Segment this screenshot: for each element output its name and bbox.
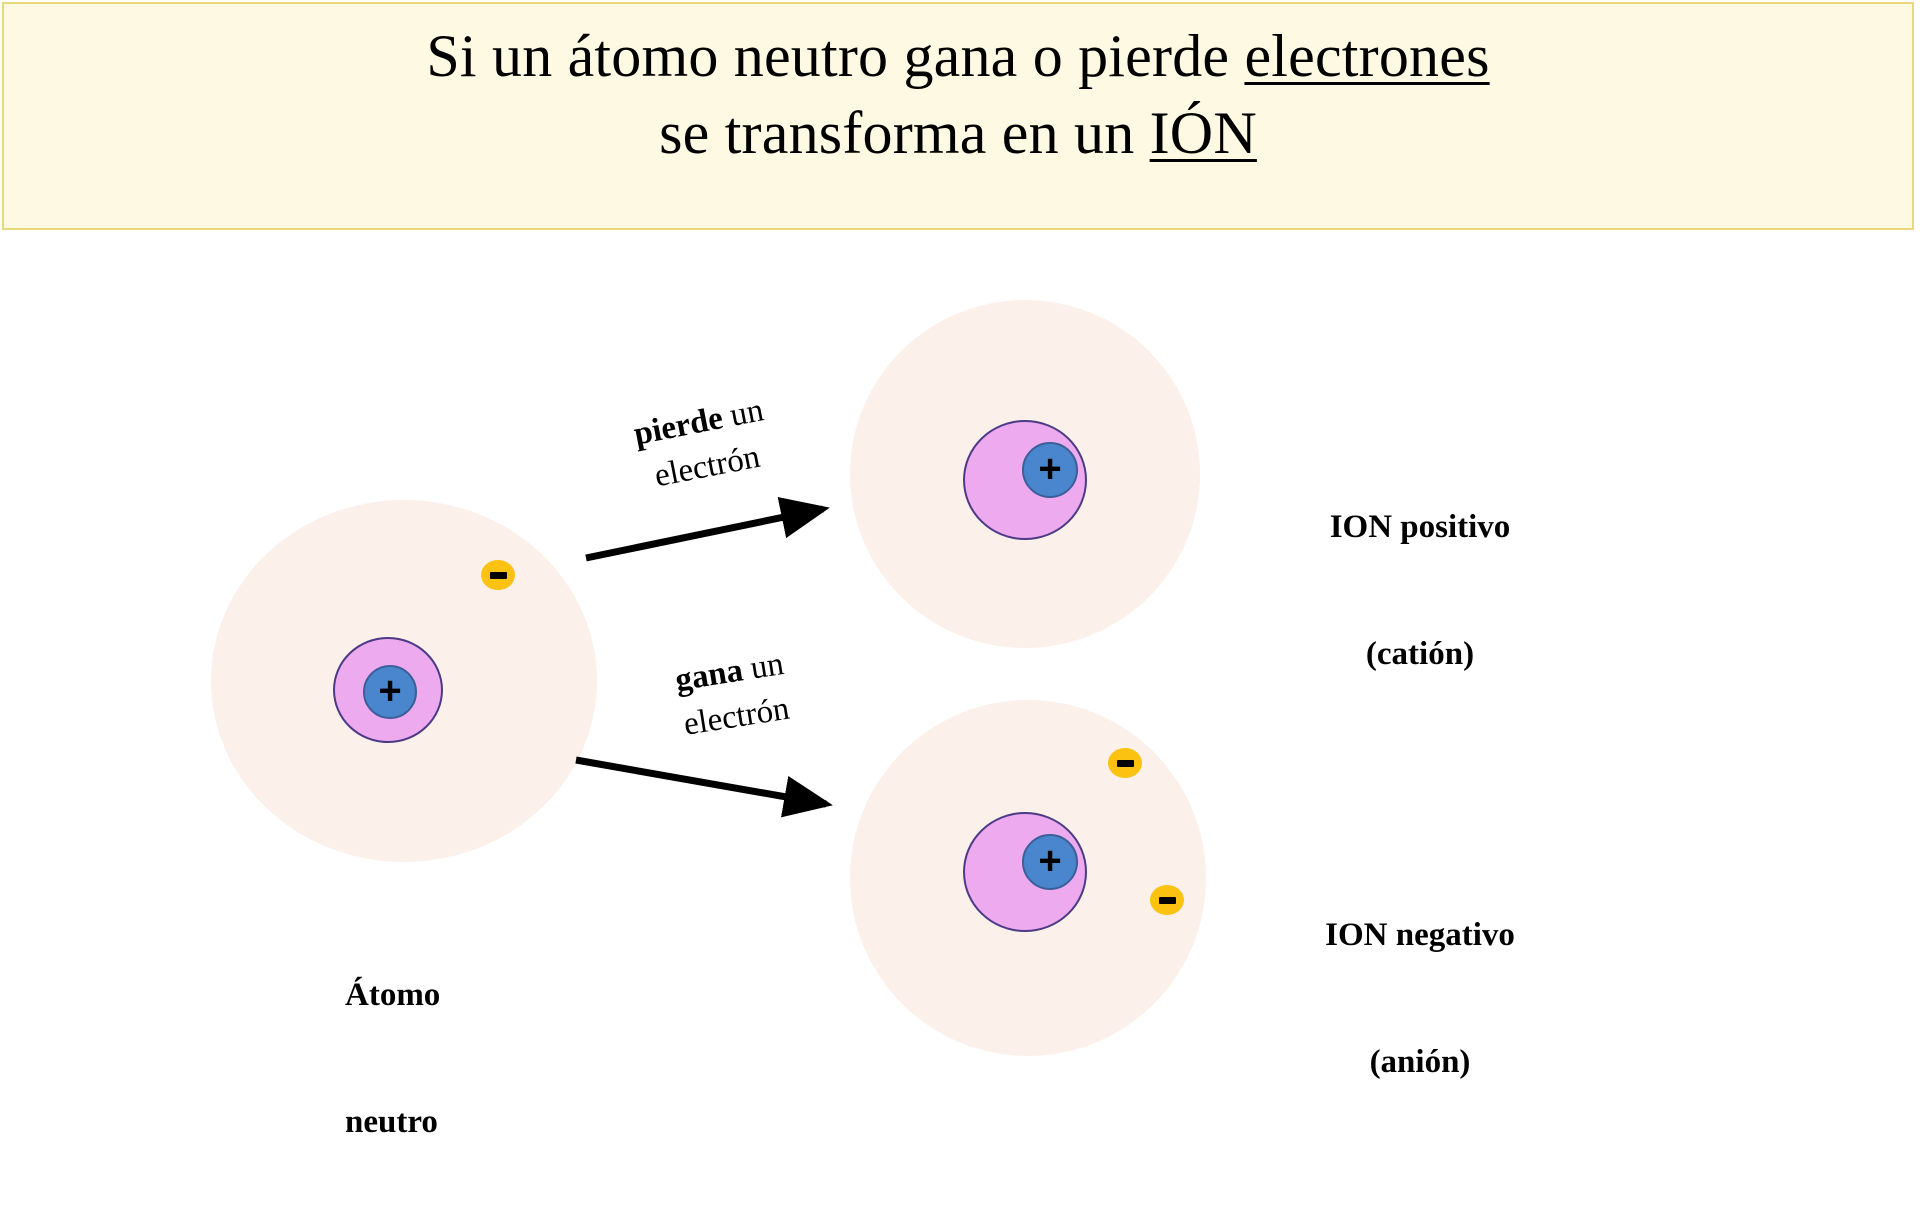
title-line-2-text: se transforma en un xyxy=(659,100,1150,166)
gain-electron-article: un xyxy=(740,646,786,688)
anion-label-line-1: ION negativo xyxy=(1255,914,1585,956)
anion-label-line-2: (anión) xyxy=(1255,1041,1585,1083)
title-line-1-underlined-word: electrones xyxy=(1244,23,1489,89)
neutral-atom-label-line-1: Átomo xyxy=(345,974,440,1016)
cation-label-line-2: (catión) xyxy=(1255,633,1585,675)
title-line-1: Si un átomo neutro gana o pierde electro… xyxy=(426,18,1489,95)
title-banner: Si un átomo neutro gana o pierde electro… xyxy=(2,2,1914,230)
neutral-atom-nucleus-shell: + xyxy=(333,637,443,743)
anion-electron-2 xyxy=(1150,885,1184,915)
plus-icon: + xyxy=(1038,449,1061,489)
title-line-1-text: Si un átomo neutro gana o pierde xyxy=(426,23,1244,89)
cation-nucleus-core: + xyxy=(1022,442,1078,498)
lose-electron-caption: pierde un electrón xyxy=(601,383,805,507)
gain-electron-caption: gana un electrón xyxy=(632,636,834,754)
title-line-2: se transforma en un IÓN xyxy=(659,95,1257,172)
cation-label: ION positivo (catión) xyxy=(1255,422,1585,760)
cation-label-line-1: ION positivo xyxy=(1255,506,1585,548)
neutral-atom-label: Átomo neutro xyxy=(345,890,440,1228)
anion-electron-1 xyxy=(1108,748,1142,778)
ion-formation-diagram: + Átomo neutro pierde un electrón xyxy=(0,230,1920,1080)
plus-icon: + xyxy=(378,671,401,711)
anion-nucleus-shell: + xyxy=(963,812,1087,932)
lose-electron-article: un xyxy=(719,392,766,435)
cation-nucleus-shell: + xyxy=(963,420,1087,540)
title-line-2-underlined-word: IÓN xyxy=(1150,100,1257,166)
gain-electron-verb: gana xyxy=(673,652,746,698)
neutral-atom-nucleus-core: + xyxy=(363,665,417,719)
anion-label: ION negativo (anión) xyxy=(1255,830,1585,1168)
minus-icon xyxy=(490,572,507,579)
minus-icon xyxy=(1159,897,1176,904)
neutral-atom-label-line-2: neutro xyxy=(345,1101,440,1143)
neutral-atom-electron xyxy=(481,560,515,590)
gain-electron-arrow xyxy=(570,750,850,820)
anion-nucleus-core: + xyxy=(1022,834,1078,890)
minus-icon xyxy=(1117,760,1134,767)
plus-icon: + xyxy=(1038,841,1061,881)
